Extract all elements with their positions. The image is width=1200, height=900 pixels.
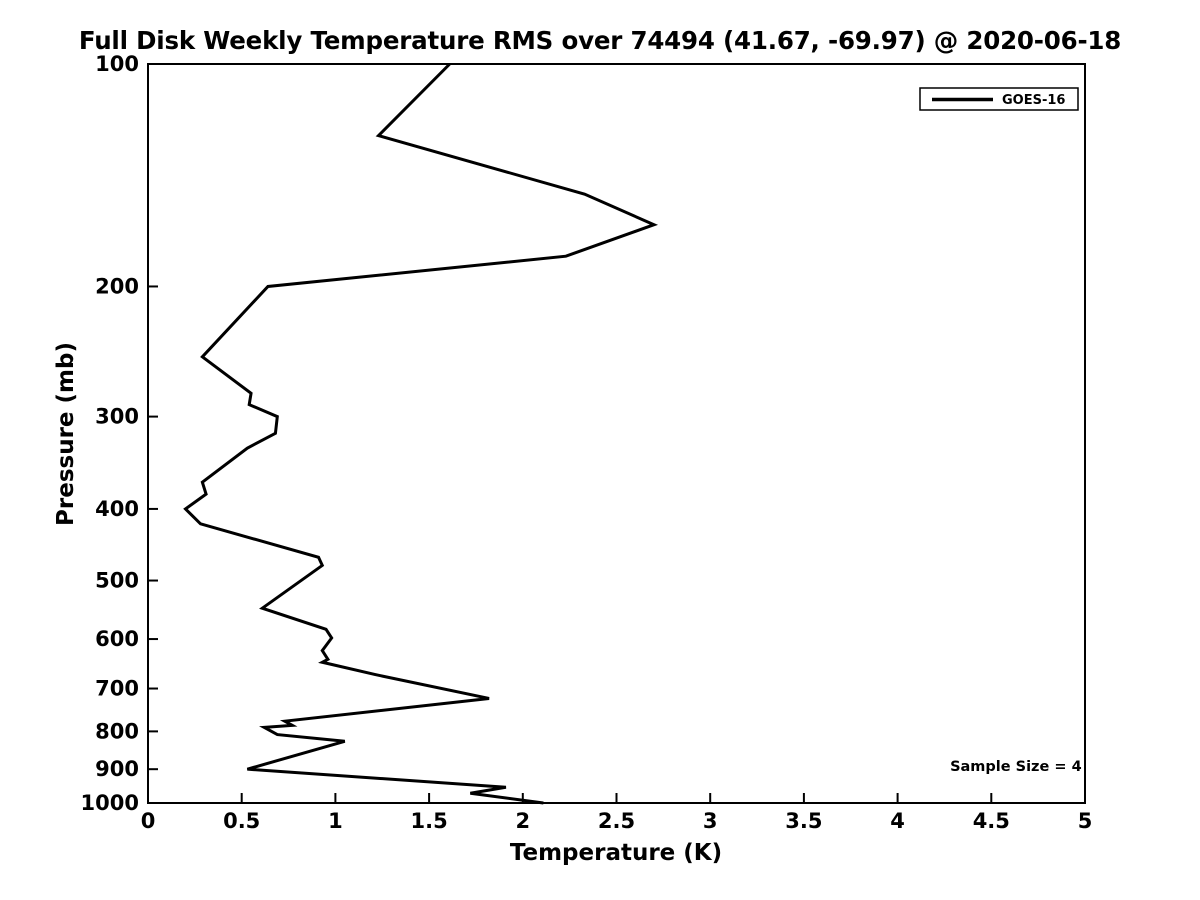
y-tick-label: 700 (95, 677, 139, 701)
y-axis-title: Pressure (mb) (53, 342, 79, 526)
y-tick-label: 1000 (81, 791, 139, 815)
x-tick-label: 3 (703, 809, 718, 833)
chart-plot-area: 00.511.522.533.544.55 100200300400500600… (0, 0, 1200, 900)
y-tick-label: 300 (95, 405, 139, 429)
y-tick-label: 800 (95, 719, 139, 743)
x-tick-label: 4 (890, 809, 905, 833)
x-tick-label: 4.5 (973, 809, 1010, 833)
y-axis-tick-labels: 1002003004005006007008009001000 (81, 52, 139, 815)
x-axis-tick-labels: 00.511.522.533.544.55 (141, 809, 1093, 833)
x-axis-title: Temperature (K) (510, 840, 722, 866)
x-tick-label: 2 (515, 809, 530, 833)
annotation-sample-size: Sample Size = 4 (950, 759, 1082, 775)
figure-canvas: Full Disk Weekly Temperature RMS over 74… (0, 0, 1200, 900)
y-tick-label: 900 (95, 757, 139, 781)
x-tick-label: 1 (328, 809, 343, 833)
x-axis-ticks (148, 793, 1085, 803)
y-tick-label: 400 (95, 497, 139, 521)
x-tick-label: 5 (1078, 809, 1093, 833)
y-axis-ticks (148, 64, 158, 803)
y-tick-label: 500 (95, 569, 139, 593)
x-tick-label: 1.5 (410, 809, 447, 833)
x-tick-label: 2.5 (598, 809, 635, 833)
legend-label-goes-16: GOES-16 (1002, 93, 1065, 108)
y-tick-label: 200 (95, 274, 139, 298)
y-tick-label: 600 (95, 627, 139, 651)
x-tick-label: 0 (141, 809, 156, 833)
chart-legend[interactable]: GOES-16 (920, 88, 1078, 110)
x-tick-label: 3.5 (785, 809, 822, 833)
axes-frame (148, 64, 1085, 803)
x-tick-label: 0.5 (223, 809, 260, 833)
data-series-goes-16 (185, 64, 654, 803)
y-tick-label: 100 (95, 52, 139, 76)
